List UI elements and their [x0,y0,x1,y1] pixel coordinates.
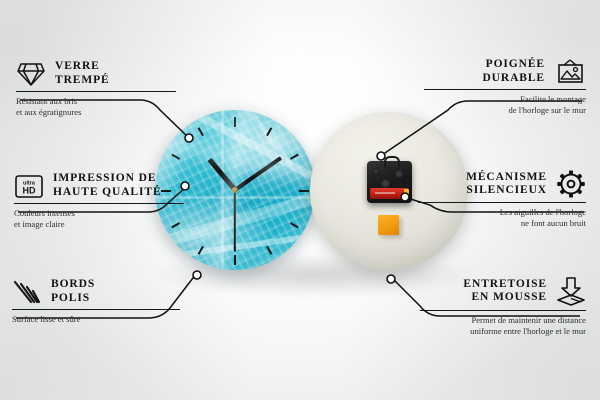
feature-subtitle: Résistant aux bris et aux égratignures [16,96,176,117]
feature-subtitle: Couleurs intenses et image claire [14,208,184,229]
feature-subtitle: Les aiguilles de l'horloge ne font aucun… [418,207,586,228]
diagonal-stripes-icon [12,279,42,305]
feature-divider [420,310,586,311]
feature-divider [14,203,184,204]
foam-spacer [378,215,399,235]
feature-divider [12,309,180,310]
feature-title: VERRE TREMPÉ [55,60,110,87]
feature-bords-polis: BORDS POLIS Surface lisse et sûre [12,278,180,325]
feature-divider [418,202,586,203]
arrow-down-pad-icon [556,276,586,306]
feature-subtitle: Surface lisse et sûre [12,314,180,325]
product-infographic: VERRE TREMPÉ Résistant aux bris et aux é… [0,0,600,400]
hanger-hook-icon [384,156,400,167]
feature-divider [16,91,176,92]
feature-title: ENTRETOISE EN MOUSSE [463,278,547,305]
feature-title: MÉCANISME SILENCIEUX [466,171,547,198]
svg-text:HD: HD [23,185,36,195]
feature-subtitle: Permet de maintenir une distance uniform… [420,315,586,336]
mechanism-dial [395,170,403,178]
feature-entretoise-en-mousse: ENTRETOISE EN MOUSSE Permet de maintenir… [420,276,586,337]
diamond-icon [16,61,46,87]
feature-mecanisme-silencieux: MÉCANISME SILENCIEUX Les a [418,170,586,229]
picture-hanger-icon [554,58,586,85]
feature-divider [424,89,586,90]
feature-subtitle: Facilite le montage de l'horloge sur le … [424,94,586,115]
feature-verre-trempe: VERRE TREMPÉ Résistant aux bris et aux é… [16,60,176,118]
mechanism-dial [373,168,379,174]
mechanism-dial [381,179,390,188]
quartz-mechanism [367,161,412,203]
feature-impression-haute-qualite: ultra HD IMPRESSION DE HAUTE QUALITÉ Cou… [14,172,184,230]
ultra-hd-icon: ultra HD [14,173,44,199]
feature-title: POIGNÉE DURABLE [482,58,545,85]
battery-band [375,192,395,194]
feature-title: IMPRESSION DE HAUTE QUALITÉ [53,172,162,199]
feature-poignee-durable: POIGNÉE DURABLE Facilite le montage de l… [424,58,586,116]
feature-title: BORDS POLIS [51,278,95,305]
battery [370,188,408,199]
gear-icon [556,170,586,198]
battery-cap [404,189,409,198]
